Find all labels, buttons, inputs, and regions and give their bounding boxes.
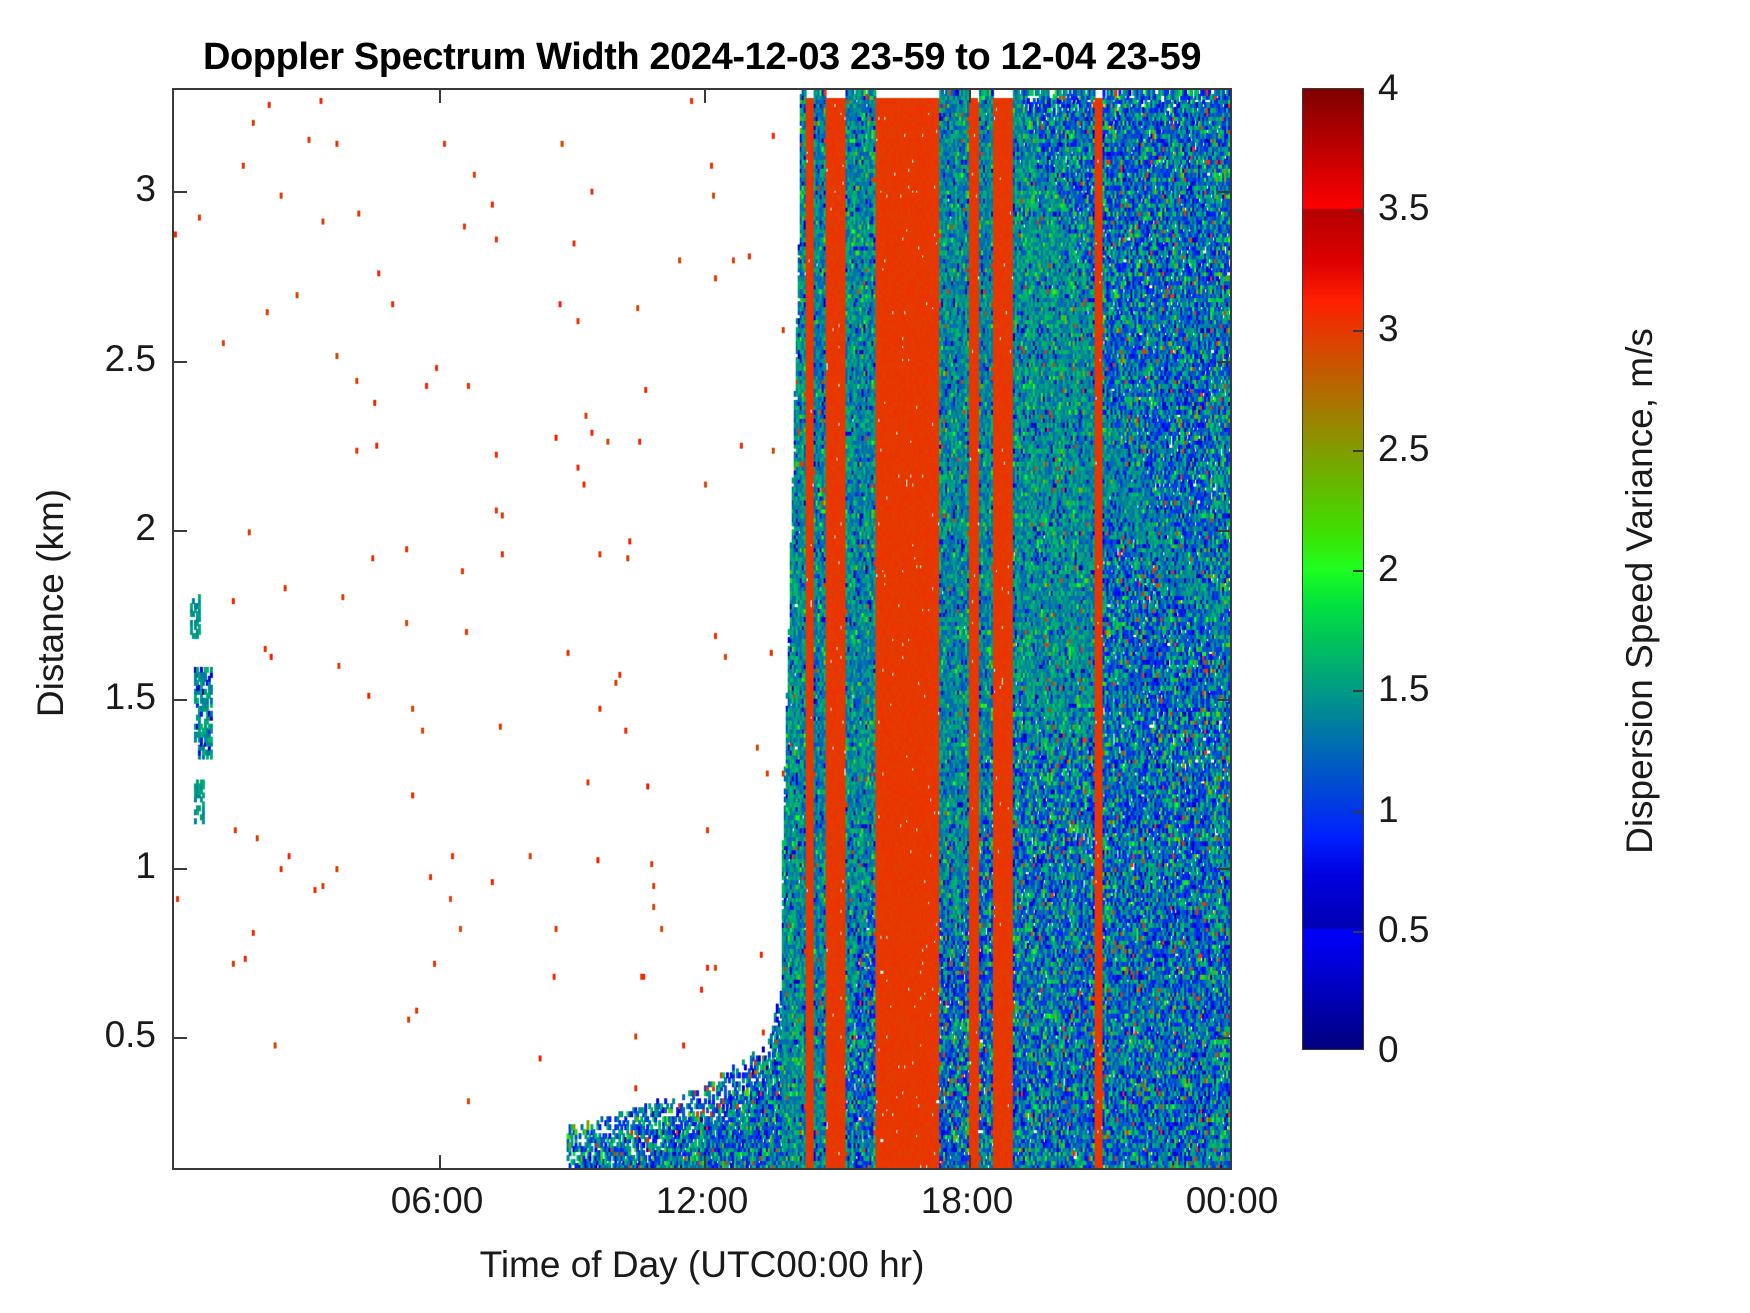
x-tick-label: 12:00: [602, 1180, 802, 1222]
y-tick-mark-right: [1217, 868, 1230, 870]
colorbar-tick-mark: [1353, 570, 1364, 572]
figure-root: Doppler Spectrum Width 2024-12-03 23-59 …: [0, 0, 1750, 1313]
y-axis-label: Distance (km): [30, 323, 72, 883]
colorbar-label: Dispersion Speed Variance, m/s: [1619, 181, 1661, 1001]
y-tick-mark-right: [1217, 1037, 1230, 1039]
x-tick-mark: [704, 1155, 706, 1168]
heatmap-image: [174, 90, 1230, 1168]
x-tick-mark: [969, 1155, 971, 1168]
y-tick-mark-right: [1217, 530, 1230, 532]
colorbar-gradient: [1303, 89, 1363, 1049]
colorbar-tick-mark: [1353, 690, 1364, 692]
y-tick-mark: [174, 868, 187, 870]
colorbar-tick-label: 2.5: [1378, 428, 1488, 470]
y-tick-mark: [174, 1037, 187, 1039]
colorbar-tick-label: 3.5: [1378, 187, 1488, 229]
y-tick-mark-right: [1217, 361, 1230, 363]
colorbar-tick-mark: [1353, 931, 1364, 933]
x-tick-label: 06:00: [337, 1180, 537, 1222]
x-tick-label: 00:00: [1132, 1180, 1332, 1222]
colorbar-tick-label: 2: [1378, 548, 1488, 590]
y-tick-mark: [174, 530, 187, 532]
colorbar-tick-mark: [1353, 330, 1364, 332]
colorbar-tick-label: 1.5: [1378, 668, 1488, 710]
x-tick-mark-top: [439, 90, 441, 103]
y-tick-label: 0.5: [36, 1014, 156, 1056]
x-axis-label: Time of Day (UTC00:00 hr): [172, 1244, 1232, 1286]
x-tick-mark-top: [704, 90, 706, 103]
y-tick-mark: [174, 361, 187, 363]
colorbar-tick-mark: [1353, 450, 1364, 452]
y-tick-mark-right: [1217, 699, 1230, 701]
colorbar-tick-mark: [1353, 209, 1364, 211]
y-tick-mark: [174, 191, 187, 193]
colorbar-tick-label: 0.5: [1378, 909, 1488, 951]
x-tick-mark-top: [969, 90, 971, 103]
colorbar-tick-label: 1: [1378, 789, 1488, 831]
y-tick-mark-right: [1217, 191, 1230, 193]
colorbar-tick-label: 4: [1378, 67, 1488, 109]
y-tick-mark: [174, 699, 187, 701]
heatmap-axes[interactable]: [172, 88, 1232, 1170]
page-title: Doppler Spectrum Width 2024-12-03 23-59 …: [172, 36, 1232, 79]
x-tick-mark: [439, 1155, 441, 1168]
colorbar[interactable]: [1302, 88, 1364, 1050]
x-tick-label: 18:00: [867, 1180, 1067, 1222]
y-tick-label: 3: [36, 168, 156, 210]
colorbar-tick-mark: [1353, 811, 1364, 813]
colorbar-tick-label: 0: [1378, 1029, 1488, 1071]
colorbar-tick-label: 3: [1378, 308, 1488, 350]
